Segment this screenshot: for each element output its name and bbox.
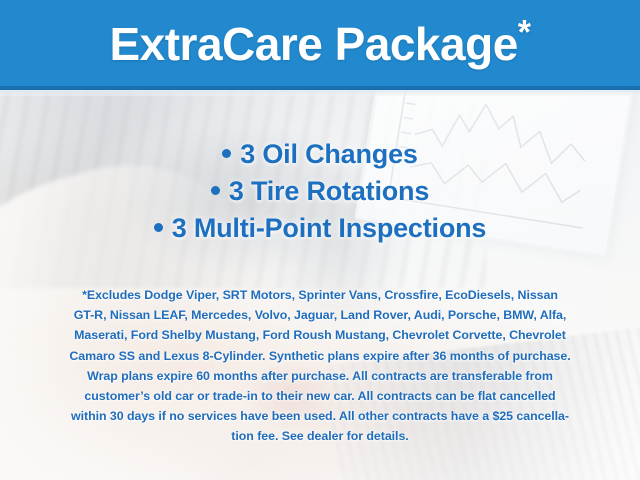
- disclaimer-line: Wrap plans expire 60 months after purcha…: [34, 366, 606, 386]
- disclaimer-line: within 30 days if no services have been …: [34, 406, 606, 426]
- benefits-list: 3 Oil Changes 3 Tire Rotations 3 Multi-P…: [0, 136, 640, 247]
- benefit-label: 3 Oil Changes: [240, 139, 417, 169]
- title-asterisk: *: [518, 14, 531, 52]
- disclaimer-line: Camaro SS and Lexus 8-Cylinder. Syntheti…: [34, 346, 606, 366]
- list-item: 3 Tire Rotations: [0, 173, 640, 210]
- bullet-dot-icon: [222, 149, 231, 158]
- disclaimer-line: *Excludes Dodge Viper, SRT Motors, Sprin…: [34, 285, 606, 305]
- disclaimer-line: customer’s old car or trade-in to their …: [34, 386, 606, 406]
- list-item: 3 Oil Changes: [0, 136, 640, 173]
- extracare-promo-card: ExtraCare Package* 3 Oil Changes 3 Tire …: [0, 0, 640, 480]
- page-title-text: ExtraCare Package: [109, 18, 517, 70]
- disclaimer-line: GT-R, Nissan LEAF, Mercedes, Volvo, Jagu…: [34, 305, 606, 325]
- bullet-dot-icon: [211, 186, 220, 195]
- header-banner: ExtraCare Package*: [0, 0, 640, 88]
- disclaimer-line: tion fee. See dealer for details.: [34, 426, 606, 446]
- disclaimer-text: *Excludes Dodge Viper, SRT Motors, Sprin…: [34, 285, 606, 447]
- header-sheen: [0, 90, 640, 96]
- disclaimer-line: Maserati, Ford Shelby Mustang, Ford Rous…: [34, 325, 606, 345]
- list-item: 3 Multi-Point Inspections: [0, 210, 640, 247]
- header-underline: [0, 86, 640, 90]
- bullet-dot-icon: [154, 223, 163, 232]
- page-title: ExtraCare Package*: [109, 21, 530, 67]
- benefit-label: 3 Multi-Point Inspections: [172, 213, 487, 243]
- benefit-label: 3 Tire Rotations: [229, 176, 429, 206]
